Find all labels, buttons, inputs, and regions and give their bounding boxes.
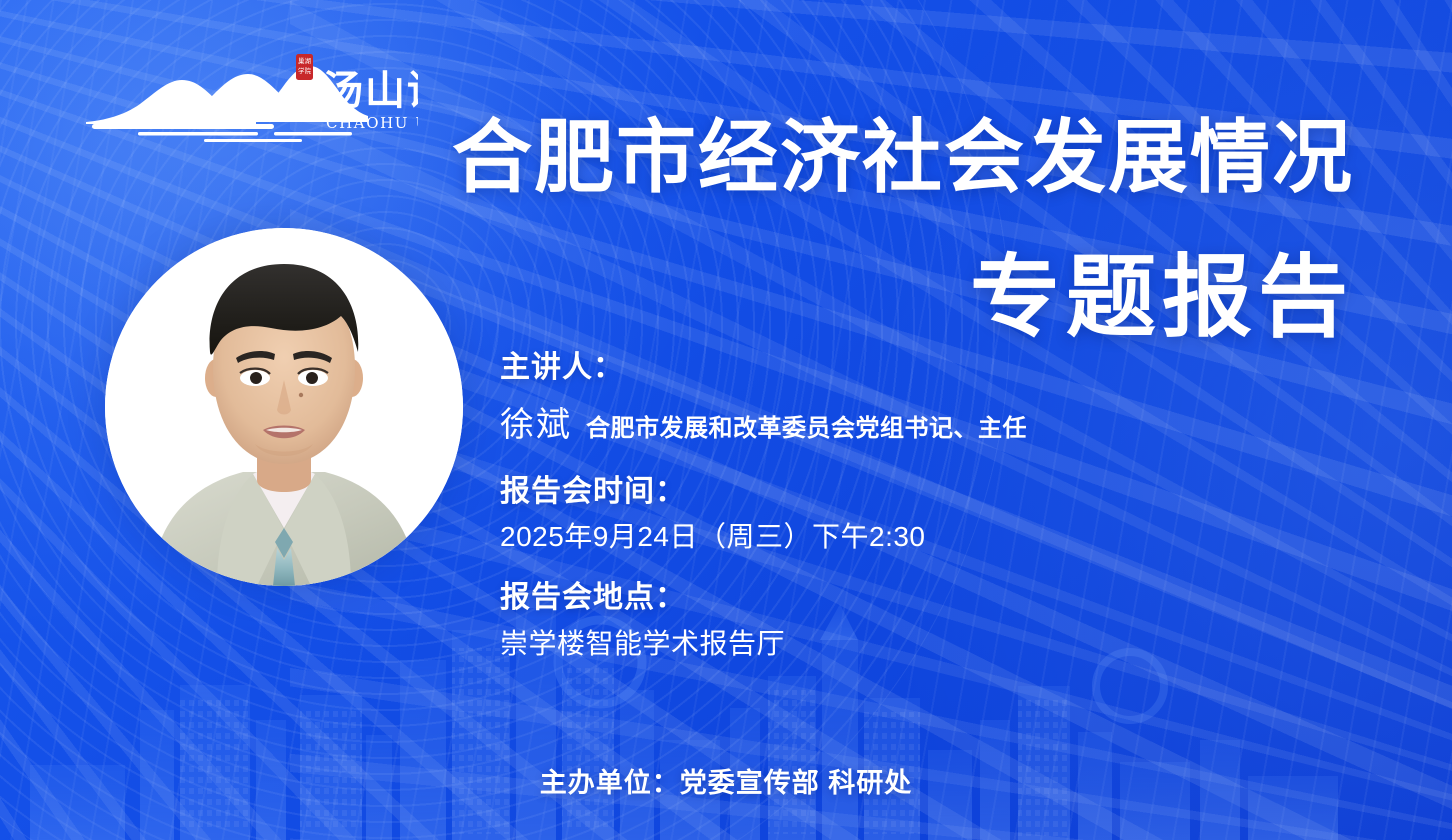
time-label: 报告会时间： <box>500 472 1380 513</box>
spacer-after-time <box>500 558 1380 578</box>
event-info-block: 主讲人： 徐斌 合肥市发展和改革委员会党组书记、主任 报告会时间： 2025年9… <box>500 348 1380 665</box>
poster-canvas: 巢湖 学院 汤山讲坛 CHAOHU UNIVERSITY <box>0 0 1452 840</box>
speaker-row: 徐斌 合肥市发展和改革委员会党组书记、主任 <box>500 397 1380 446</box>
speaker-title: 合肥市发展和改革委员会党组书记、主任 <box>586 408 1027 443</box>
logo-en-text: CHAOHU UNIVERSITY <box>326 114 418 132</box>
speaker-name: 徐斌 <box>500 397 572 446</box>
brand-logo: 巢湖 学院 汤山讲坛 CHAOHU UNIVERSITY <box>78 52 418 144</box>
page-title-line2: 专题报告 <box>970 253 1354 343</box>
svg-text:巢湖: 巢湖 <box>298 56 312 65</box>
time-value: 2025年9月24日（周三）下午2:30 <box>500 516 1380 558</box>
mountain-logo-icon: 巢湖 学院 汤山讲坛 CHAOHU UNIVERSITY <box>78 52 418 144</box>
portrait-photo <box>105 228 463 586</box>
organizer-footer: 主办单位：党委宣传部 科研处 <box>0 761 1452 800</box>
speaker-portrait <box>105 228 463 586</box>
venue-value: 崇学楼智能学术报告厅 <box>500 623 1380 665</box>
page-title-line1: 合肥市经济社会发展情况 <box>452 118 1354 198</box>
speaker-label: 主讲人： <box>500 348 1380 389</box>
venue-label: 报告会地点： <box>500 578 1380 619</box>
logo-cn-text: 汤山讲坛 <box>323 68 418 114</box>
svg-text:学院: 学院 <box>298 66 312 75</box>
spacer-after-speaker <box>500 446 1380 472</box>
